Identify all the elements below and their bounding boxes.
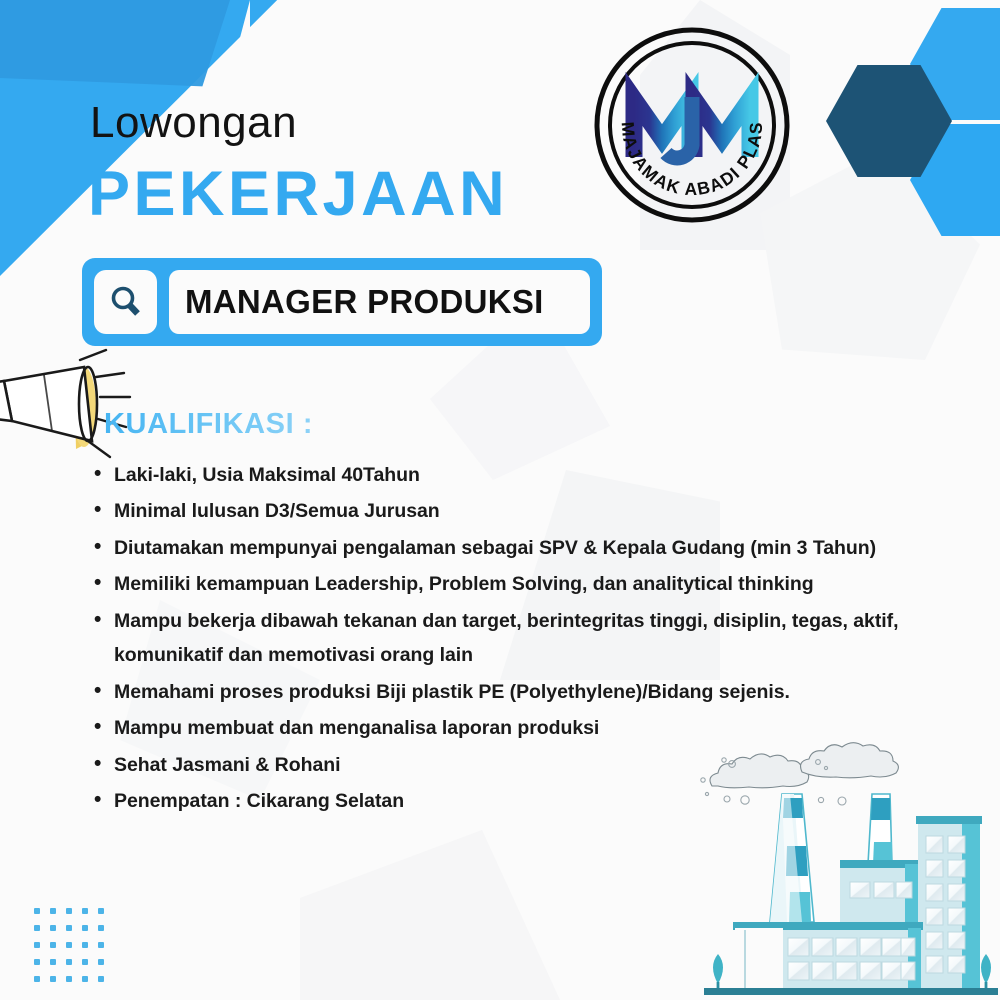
factory-svg [690, 742, 1000, 1000]
tree-icon [981, 954, 991, 990]
list-item: Laki-laki, Usia Maksimal 40Tahun [86, 458, 976, 492]
logo-svg: CV MAJAMAK ABADI PLASTIK [592, 25, 792, 225]
list-item: Mampu bekerja dibawah tekanan dan target… [86, 604, 976, 673]
list-item: Memiliki kemampuan Leadership, Problem S… [86, 567, 976, 601]
background-shape [300, 830, 560, 1000]
company-logo: CV MAJAMAK ABADI PLASTIK [592, 25, 792, 225]
qualifications-heading: KUALIFIKASI : [104, 408, 313, 441]
search-icon-button[interactable] [94, 270, 157, 334]
page-subtitle: Lowongan [90, 98, 297, 148]
corner-diagonal-decoration [0, 0, 330, 300]
list-item: Memahami proses produksi Biji plastik PE… [86, 675, 976, 709]
list-item: Diutamakan mempunyai pengalaman sebagai … [86, 531, 976, 565]
job-vacancy-poster: CV MAJAMAK ABADI PLASTIK Lowongan PEKERJ… [0, 0, 1000, 1000]
job-position-value[interactable]: MANAGER PRODUKSI [169, 270, 590, 334]
factory-illustration [690, 742, 1000, 1000]
search-icon [107, 283, 145, 321]
search-bar[interactable]: MANAGER PRODUKSI [82, 258, 602, 346]
list-item: Minimal lulusan D3/Semua Jurusan [86, 494, 976, 528]
dot-grid-decoration [34, 908, 114, 993]
tree-icon [713, 954, 723, 990]
page-title: PEKERJAAN [88, 158, 508, 230]
list-item: Mampu membuat dan menganalisa laporan pr… [86, 711, 976, 745]
